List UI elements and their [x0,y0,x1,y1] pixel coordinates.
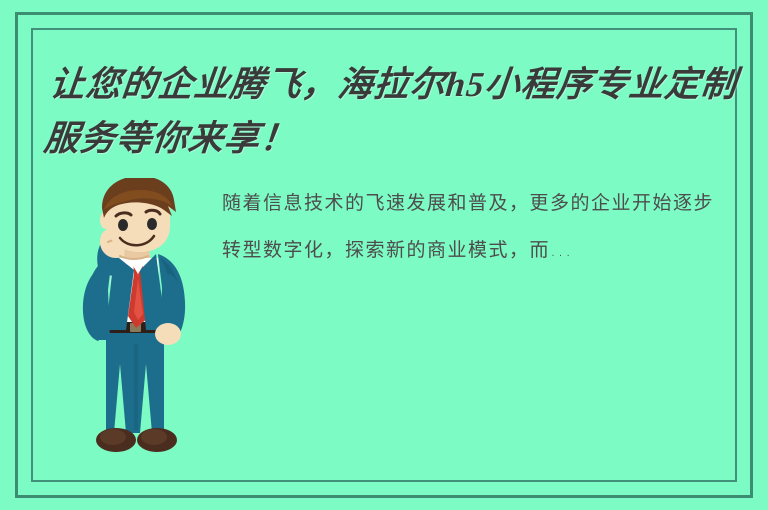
poster-canvas: 让您的企业腾飞，海拉尔h5小程序专业定制服务等你来享！ [0,0,768,510]
thinking-businessman-illustration [60,178,210,476]
body-paragraph: 随着信息技术的飞速发展和普及，更多的企业开始逐步转型数字化，探索新的商业模式，而… [222,180,732,274]
page-title: 让您的企业腾飞，海拉尔h5小程序专业定制服务等你来享！ [41,58,742,166]
